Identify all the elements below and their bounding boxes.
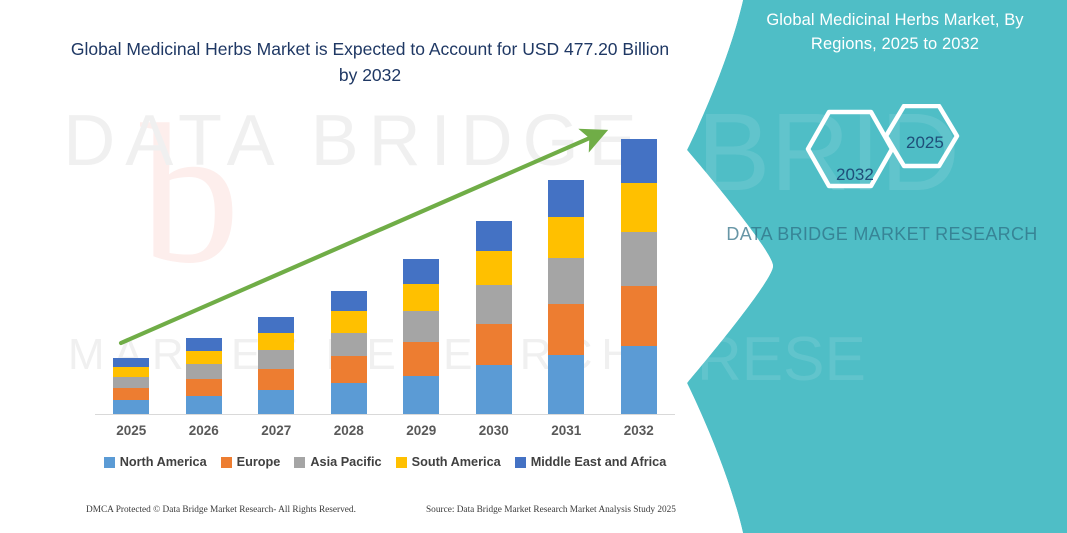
legend-label: South America [412,455,501,469]
bar-segment [186,364,222,379]
bar-segment [258,369,294,390]
stacked-bar [186,338,222,414]
hexagon-label-2025: 2025 [906,133,944,153]
legend-swatch [396,457,407,468]
x-axis-tick-label: 2032 [603,423,676,438]
svg-text:RESE: RESE [697,325,866,394]
bar-segment [403,376,439,414]
panel-title: Global Medicinal Herbs Market, By Region… [735,8,1055,56]
bar-segment [476,365,512,414]
stacked-bar [476,221,512,414]
stacked-bar [331,291,367,414]
legend-swatch [515,457,526,468]
bar-segment [258,390,294,414]
x-axis-tick-label: 2029 [385,423,458,438]
bar-segment [331,311,367,332]
bar-column [530,120,603,414]
bar-segment [548,258,584,304]
bar-segment [331,356,367,383]
bar-segment [258,333,294,350]
bar-segment [476,285,512,323]
x-axis-tick-label: 2028 [313,423,386,438]
footer-source: Source: Data Bridge Market Research Mark… [426,505,676,515]
stacked-bar [403,259,439,414]
bar-segment [113,367,149,377]
bar-segment [331,333,367,357]
bar-segment [403,259,439,284]
legend-label: Middle East and Africa [531,455,667,469]
bar-segment [548,304,584,355]
legend-item[interactable]: Asia Pacific [294,455,381,469]
bar-segment [621,232,657,286]
x-axis-labels: 20252026202720282029203020312032 [95,423,675,438]
bar-segment [331,383,367,414]
legend-label: Europe [237,455,281,469]
bar-segment [621,139,657,183]
bar-segment [113,388,149,400]
hexagon-label-2032: 2032 [836,165,874,185]
bar-column [313,120,386,414]
bar-segment [258,317,294,333]
bar-segment [113,358,149,367]
bar-segment [476,221,512,252]
stacked-bar [258,317,294,414]
infographic-canvas: b DATA BRIDGE MARKET RESEARCH Global Med… [0,0,1067,533]
chart-legend: North AmericaEuropeAsia PacificSouth Ame… [95,455,675,469]
x-axis-tick-label: 2030 [458,423,531,438]
bar-column [95,120,168,414]
bar-segment [548,180,584,217]
legend-swatch [104,457,115,468]
bar-column [168,120,241,414]
bar-segment [621,183,657,232]
chart-area: b DATA BRIDGE MARKET RESEARCH Global Med… [0,0,710,533]
x-axis-line [95,414,675,415]
stacked-bar [621,139,657,414]
bar-segment [403,342,439,376]
x-axis-tick-label: 2027 [240,423,313,438]
bar-segment [113,400,149,414]
bar-segment [403,311,439,342]
bar-segment [331,291,367,311]
x-axis-tick-label: 2026 [168,423,241,438]
bar-segment [621,346,657,414]
legend-item[interactable]: Europe [221,455,281,469]
bar-segment [258,350,294,369]
hexagon-group: 2025 2032 [787,104,1017,214]
footer-copyright: DMCA Protected © Data Bridge Market Rese… [86,505,356,515]
bar-segment [548,217,584,258]
page-title: Global Medicinal Herbs Market is Expecte… [60,36,680,88]
bar-segment [186,379,222,396]
panel-watermark: BRID RESE [687,0,1067,533]
stacked-bar-chart [95,120,675,415]
bar-segment [113,377,149,388]
bar-segment [403,284,439,311]
hexagon-shapes [787,104,1017,214]
bar-column [458,120,531,414]
footer: DMCA Protected © Data Bridge Market Rese… [0,505,710,527]
bar-segment [476,324,512,366]
bar-column [385,120,458,414]
legend-item[interactable]: North America [104,455,207,469]
bar-segment [186,351,222,365]
bar-column [603,120,676,414]
stacked-bar [548,180,584,414]
legend-item[interactable]: South America [396,455,501,469]
x-axis-tick-label: 2025 [95,423,168,438]
legend-swatch [221,457,232,468]
bar-segment [186,396,222,414]
legend-label: Asia Pacific [310,455,381,469]
bar-segment [186,338,222,350]
bar-segment [548,355,584,414]
panel-brand-text: DATA BRIDGE MARKET RESEARCH [717,220,1047,248]
bar-column [240,120,313,414]
legend-swatch [294,457,305,468]
stacked-bar [113,358,149,415]
legend-item[interactable]: Middle East and Africa [515,455,667,469]
x-axis-tick-label: 2031 [530,423,603,438]
bar-segment [476,251,512,285]
brand-panel: BRID RESE Global Medicinal Herbs Market,… [687,0,1067,533]
bar-segment [621,286,657,346]
bar-group [95,120,675,414]
legend-label: North America [120,455,207,469]
